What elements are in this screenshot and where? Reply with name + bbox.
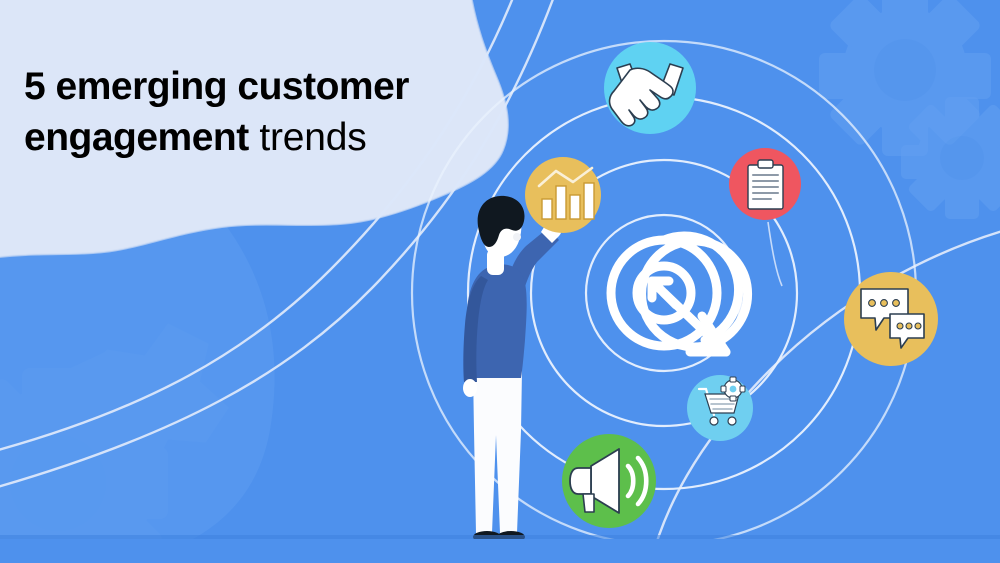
ground-strip [0,539,1000,563]
node-chat-bubbles[interactable] [844,272,938,366]
marketing-banner: 5 emerging customer engagement trends [0,0,1000,563]
clipboard-document-icon [748,160,783,209]
node-handshake[interactable] [604,42,696,134]
headline-line-2-light-text: trends [249,116,367,159]
node-clipboard[interactable] [729,148,801,220]
ground-line [0,535,1000,539]
node-bar-chart[interactable] [525,157,601,233]
node-shopping-cart[interactable] [687,375,753,441]
person-hand-left [463,379,477,397]
headline-line-1-text: 5 emerging customer [24,65,409,108]
headline-line-1: 5 emerging customer [24,62,494,113]
page-title: 5 emerging customer engagement trends [24,62,494,163]
node-megaphone[interactable] [562,434,656,528]
headline-line-2: engagement trends [24,113,494,164]
person-ear [513,233,521,241]
headline-line-2-strong-text: engagement [24,116,249,159]
